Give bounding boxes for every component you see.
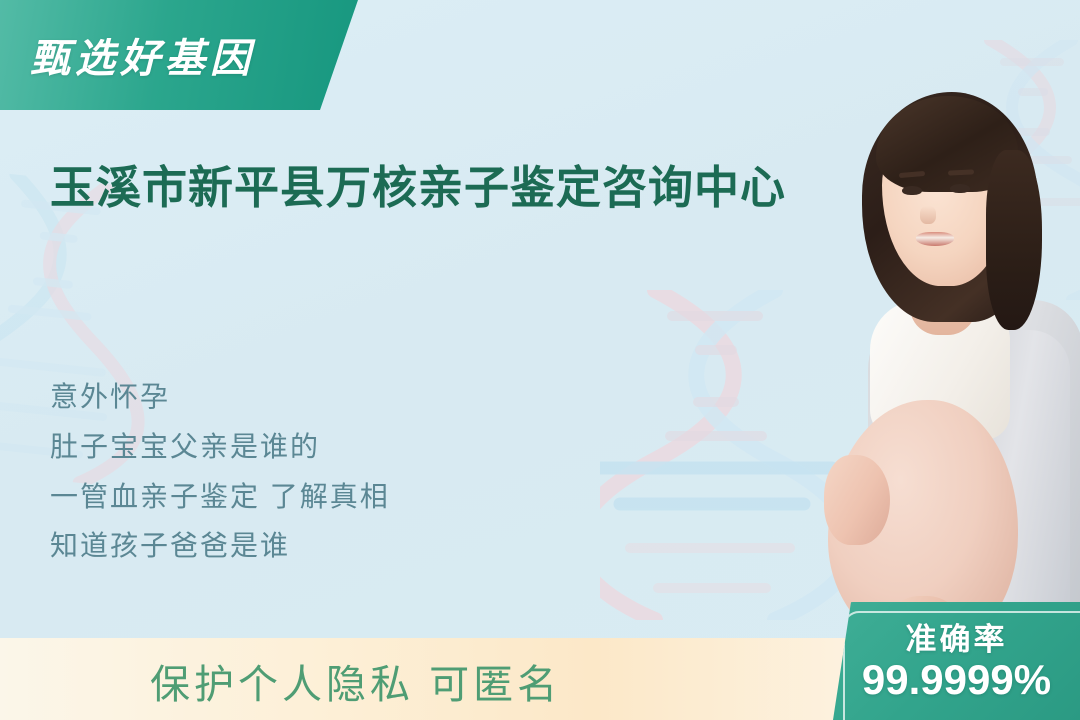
hair-side-lock (986, 150, 1042, 330)
accuracy-badge: 准确率 99.9999% (833, 602, 1080, 720)
brand-name: 甄选好基因 (30, 26, 255, 84)
body-line: 肚子宝宝父亲是谁的 (50, 422, 570, 472)
body-line: 知道孩子爸爸是谁 (50, 521, 570, 571)
body-copy: 意外怀孕 肚子宝宝父亲是谁的 一管血亲子鉴定 了解真相 知道孩子爸爸是谁 (50, 372, 570, 571)
eye-left (902, 186, 922, 195)
nose (920, 206, 936, 224)
accuracy-label: 准确率 (833, 614, 1080, 659)
privacy-text: 保护个人隐私 可匿名 (150, 652, 561, 710)
mouth (916, 232, 954, 246)
accuracy-value: 99.9999% (833, 656, 1080, 704)
hand-on-belly (824, 455, 890, 545)
promo-poster: 甄选好基因 玉溪市新平县万核亲子鉴定咨询中心 意外怀孕 肚子宝宝父亲是谁的 一管… (0, 0, 1080, 720)
brand-ribbon: 甄选好基因 (0, 0, 358, 110)
body-line: 一管血亲子鉴定 了解真相 (50, 472, 570, 522)
page-title: 玉溪市新平县万核亲子鉴定咨询中心 (50, 158, 850, 217)
body-line: 意外怀孕 (50, 372, 570, 422)
eye-right (950, 184, 970, 193)
